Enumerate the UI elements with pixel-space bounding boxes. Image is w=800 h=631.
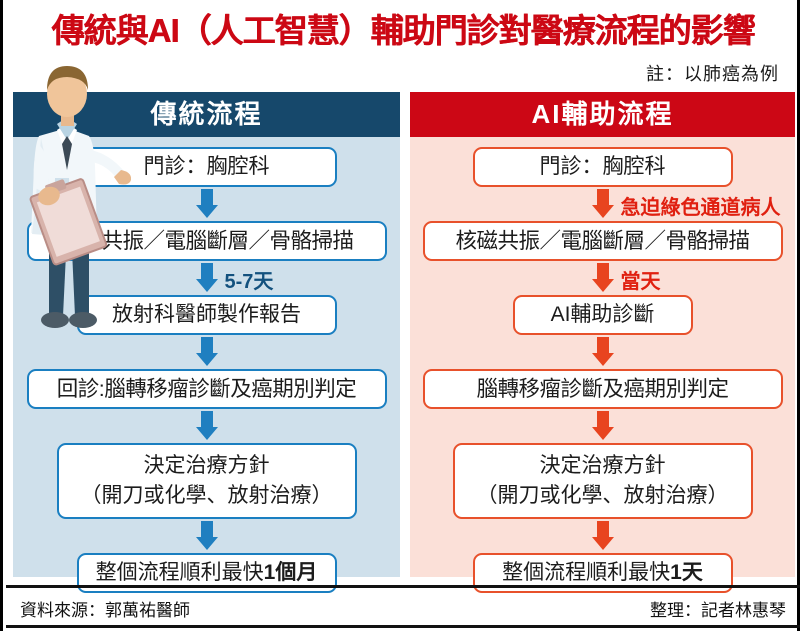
infographic-root: 傳統與AI（人工智慧）輔助門診對醫療流程的影響 註：以肺癌為例 傳統流程 門診：…	[0, 0, 800, 631]
footer-editor: 整理：記者林惠琴	[650, 596, 786, 621]
footer-divider	[6, 585, 800, 588]
title-bar: 傳統與AI（人工智慧）輔助門診對醫療流程的影響	[3, 10, 800, 52]
panel-traditional-flow: 傳統流程 門診：胸腔科 核磁共振／電腦斷層／骨骼掃描 5-7天 放射科醫師製作報…	[13, 92, 400, 577]
flow-arrow-label-l2: 5-7天	[225, 265, 274, 294]
flow-step-r5: 決定治療方針（開刀或化學、放射治療）	[453, 443, 753, 519]
flow-arrow-l4	[13, 409, 400, 443]
note-label: 註：以肺癌為例	[646, 60, 779, 86]
flow-step-l3: 放射科醫師製作報告	[77, 295, 337, 335]
flow-arrow-r2: 當天	[410, 261, 795, 295]
flow-arrow-label-r2: 當天	[621, 265, 661, 294]
flow-step-l1: 門診：胸腔科	[77, 147, 337, 187]
page-title: 傳統與AI（人工智慧）輔助門診對醫療流程的影響	[3, 10, 800, 52]
flow-step-l2: 核磁共振／電腦斷層／骨骼掃描	[27, 221, 387, 261]
panel-header-traditional: 傳統流程	[13, 92, 400, 137]
flow-step-l5: 決定治療方針（開刀或化學、放射治療）	[57, 443, 357, 519]
flow-arrow-r3	[410, 335, 795, 369]
flow-arrow-r1: 急迫綠色通道病人	[410, 187, 795, 221]
footer-bar: 資料來源：郭萬祐醫師 整理：記者林惠琴	[6, 592, 800, 628]
flow-ai: 門診：胸腔科 急迫綠色通道病人 核磁共振／電腦斷層／骨骼掃描 當天 AI輔助診斷…	[410, 137, 795, 593]
flow-step-r4: 腦轉移瘤診斷及癌期別判定	[423, 369, 783, 409]
flow-step-l4: 回診:腦轉移瘤診斷及癌期別判定	[27, 369, 387, 409]
flow-step-r2: 核磁共振／電腦斷層／骨骼掃描	[423, 221, 783, 261]
flow-arrow-l5	[13, 519, 400, 553]
flow-arrow-l3	[13, 335, 400, 369]
flow-step-r1: 門診：胸腔科	[473, 147, 733, 187]
flow-arrow-l2: 5-7天	[13, 261, 400, 295]
flow-traditional: 門診：胸腔科 核磁共振／電腦斷層／骨骼掃描 5-7天 放射科醫師製作報告 回診:…	[13, 137, 400, 593]
flow-arrow-r4	[410, 409, 795, 443]
flow-step-r3: AI輔助診斷	[513, 295, 693, 335]
panel-header-ai: AI輔助流程	[410, 92, 795, 137]
flow-arrow-r5	[410, 519, 795, 553]
footer-source: 資料來源：郭萬祐醫師	[20, 596, 190, 621]
flow-arrow-label-r1: 急迫綠色通道病人	[621, 191, 781, 220]
panel-ai-flow: AI輔助流程 門診：胸腔科 急迫綠色通道病人 核磁共振／電腦斷層／骨骼掃描 當天…	[410, 92, 795, 577]
flow-arrow-l1	[13, 187, 400, 221]
